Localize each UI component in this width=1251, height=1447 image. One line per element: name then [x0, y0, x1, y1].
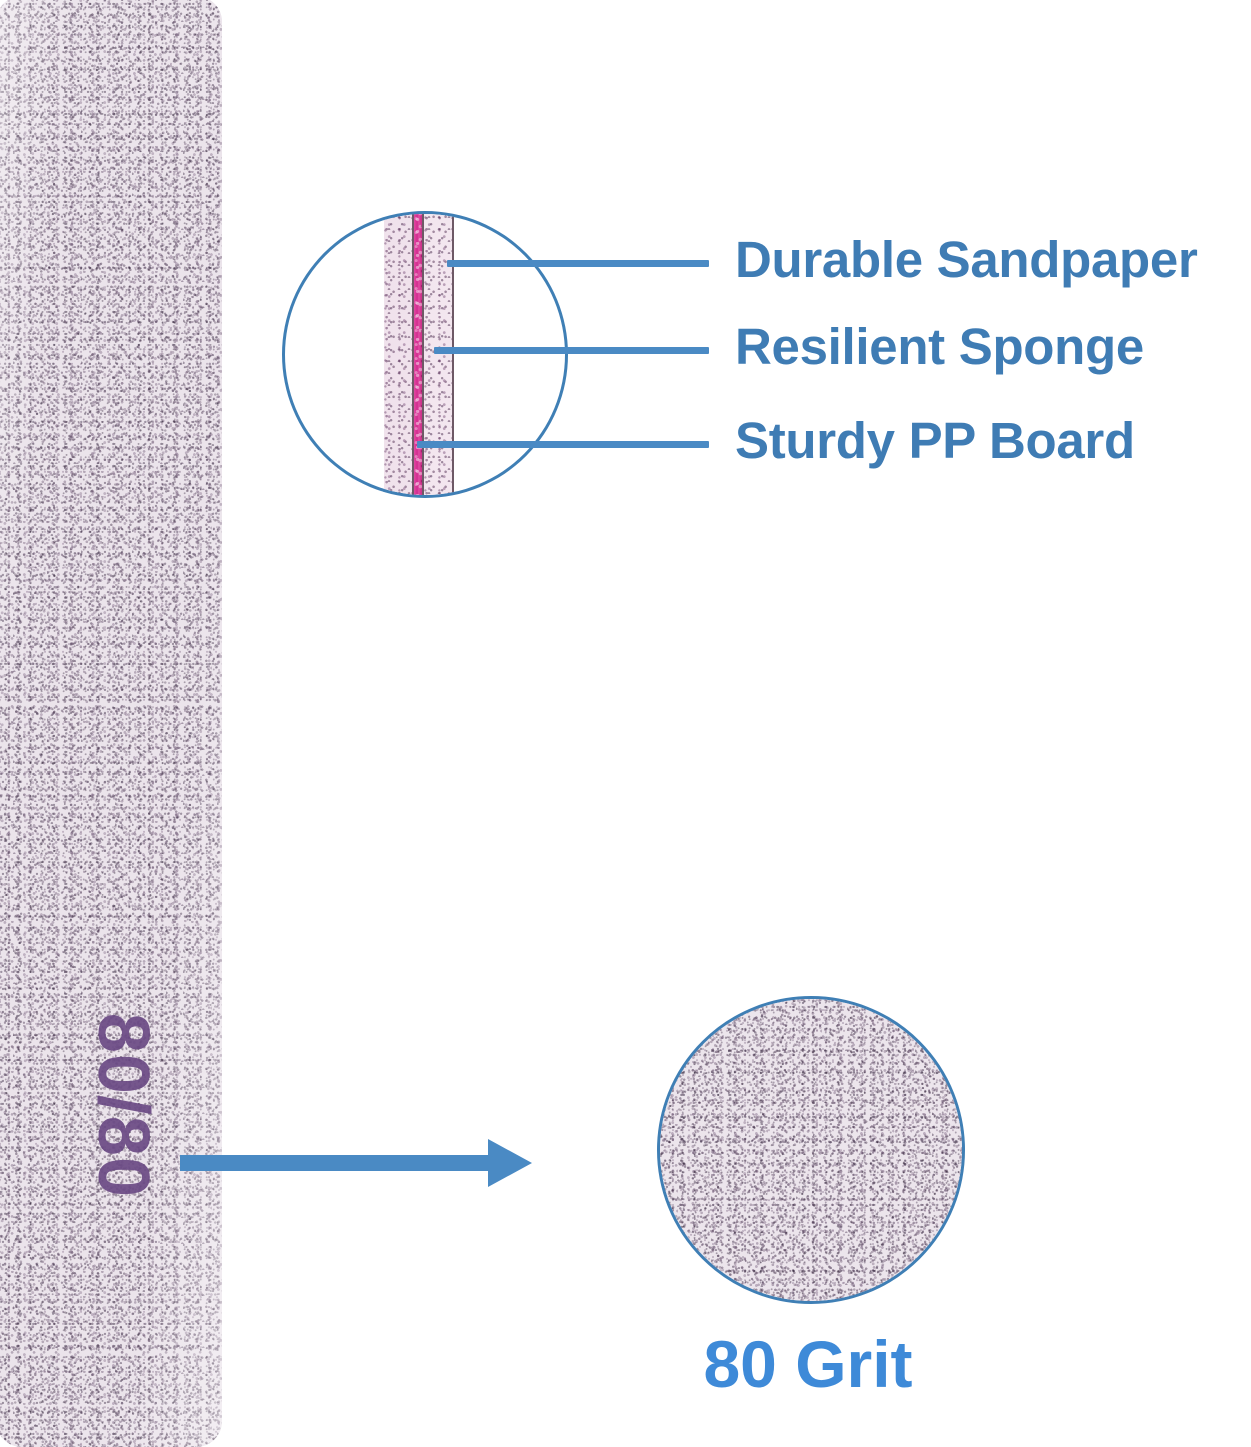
grit-pointer-arrow [180, 1132, 536, 1194]
leader-line-sandpaper [447, 260, 709, 267]
layer-sandpaper-left [384, 211, 412, 498]
feature-label-board: Sturdy PP Board [735, 415, 1135, 466]
grit-texture-magnifier [657, 996, 965, 1304]
grit-caption: 80 Grit [608, 1331, 1008, 1397]
nail-file-product: 80/80 [0, 0, 222, 1447]
nail-file-grit-print: 80/80 [48, 1030, 198, 1180]
arrow-icon [180, 1132, 536, 1194]
layer-pp-board-core [414, 211, 422, 498]
nail-file-grit-print-text: 80/80 [82, 1012, 164, 1197]
layer-sandpaper-right [424, 211, 452, 498]
cross-section-magnifier [282, 211, 568, 498]
grit-texture-fine [660, 999, 962, 1301]
infographic-canvas: 80/80 Durable Sandpaper Resilient Sponge… [0, 0, 1251, 1447]
nail-file-sheen [0, 0, 222, 1447]
leader-line-sponge [434, 347, 709, 354]
feature-label-sponge: Resilient Sponge [735, 321, 1144, 372]
cross-section-strip [384, 211, 454, 498]
layer-edge-right [452, 211, 454, 498]
leader-line-board [417, 441, 709, 448]
feature-label-sandpaper: Durable Sandpaper [735, 234, 1198, 285]
